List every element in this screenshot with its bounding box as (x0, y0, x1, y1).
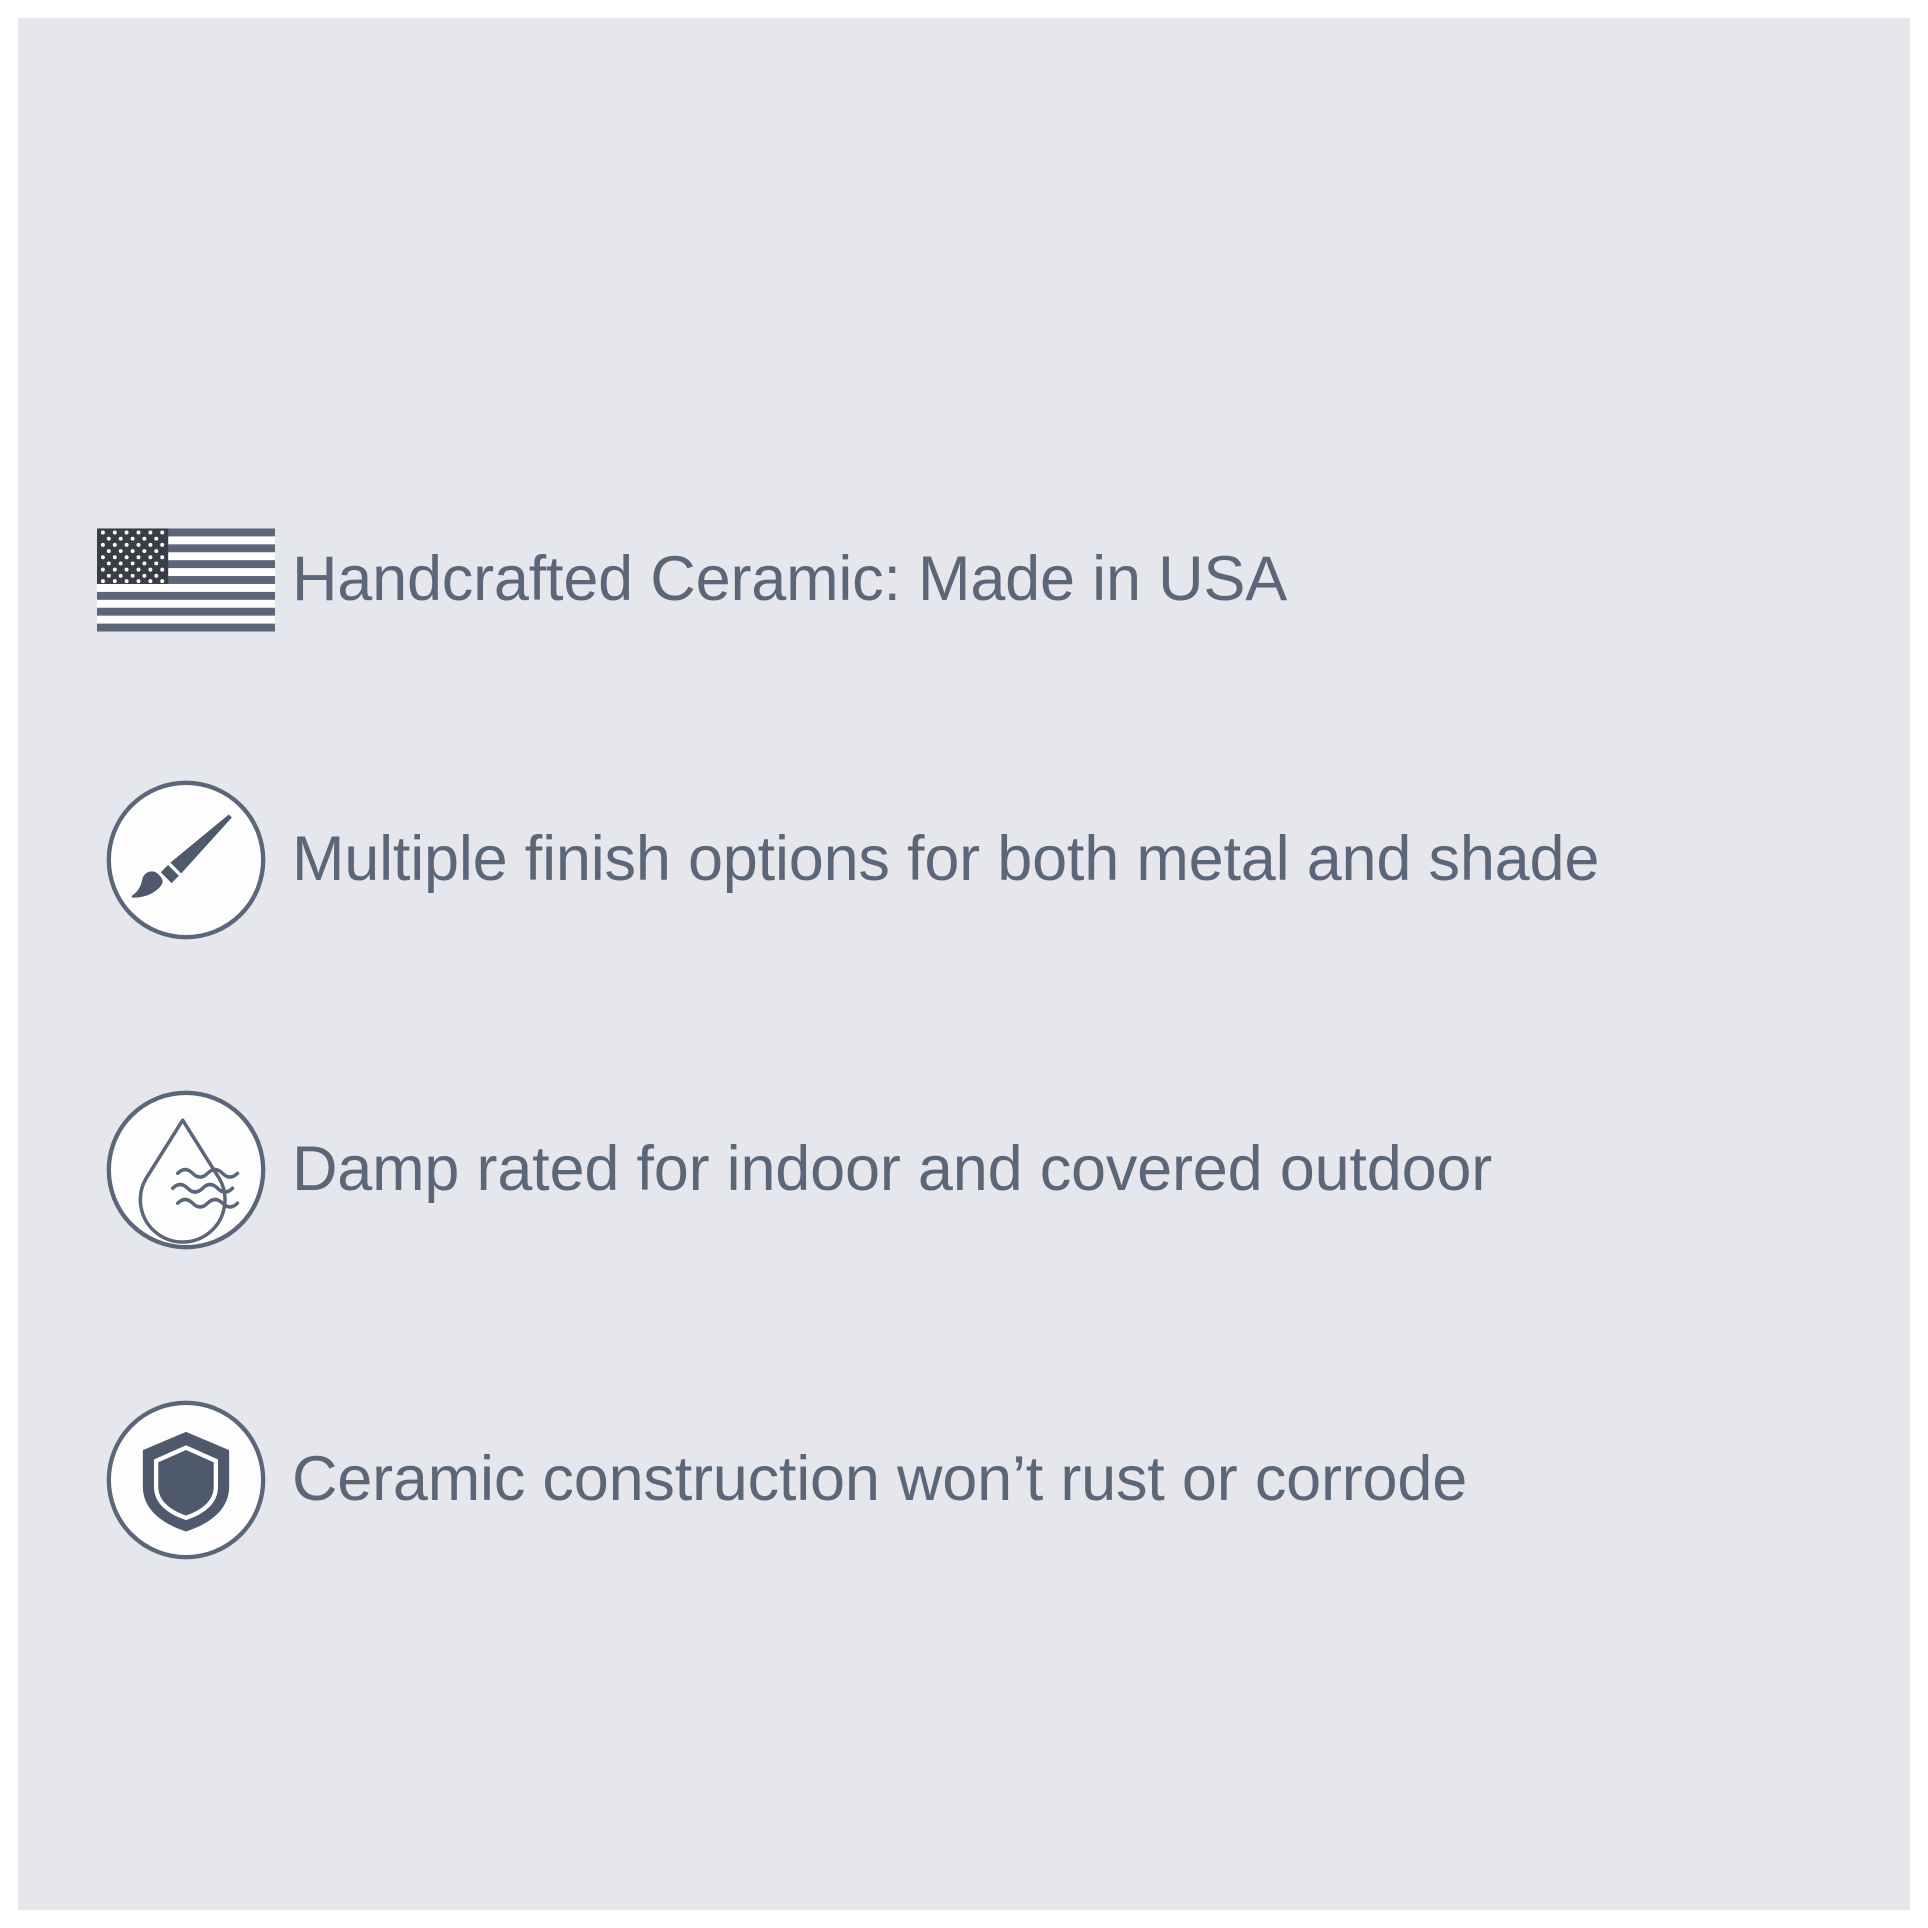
icon-slot (86, 1380, 286, 1580)
paintbrush-icon (103, 777, 269, 943)
feature-label: Ceramic construction won’t rust or corro… (286, 1445, 1467, 1514)
feature-label: Handcrafted Ceramic: Made in USA (286, 545, 1287, 614)
feature-item-no-rust: Ceramic construction won’t rust or corro… (86, 1380, 1846, 1580)
feature-item-finish-options: Multiple finish options for both metal a… (86, 760, 1846, 960)
feature-item-damp-rated: Damp rated for indoor and covered outdoo… (86, 1070, 1846, 1270)
shield-icon (103, 1397, 269, 1563)
icon-slot (86, 1070, 286, 1270)
feature-list: Handcrafted Ceramic: Made in USA Mu (18, 18, 1910, 1910)
icon-slot (86, 480, 286, 680)
icon-slot (86, 760, 286, 960)
water-droplet-waves-icon (103, 1087, 269, 1253)
feature-panel: Handcrafted Ceramic: Made in USA Mu (18, 18, 1910, 1910)
feature-label: Damp rated for indoor and covered outdoo… (286, 1135, 1492, 1204)
usa-flag-icon (97, 528, 275, 632)
feature-label: Multiple finish options for both metal a… (286, 825, 1599, 894)
feature-item-made-in-usa: Handcrafted Ceramic: Made in USA (86, 480, 1846, 680)
